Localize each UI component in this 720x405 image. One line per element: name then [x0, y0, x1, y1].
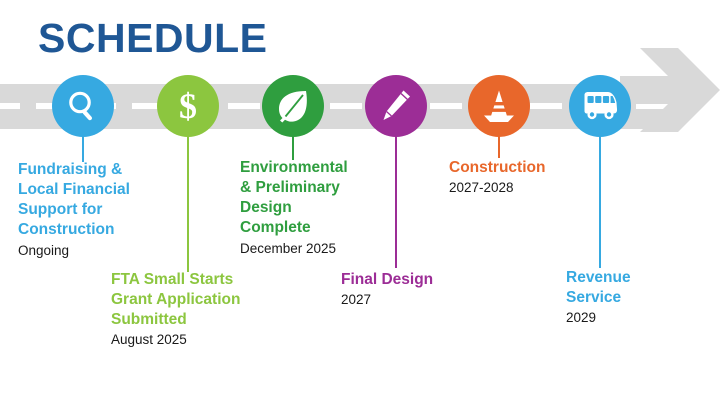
road-dash	[530, 103, 562, 109]
milestone-date-revenue-service: 2029	[566, 309, 676, 327]
bus-icon	[581, 91, 619, 121]
road-dash	[228, 103, 260, 109]
page-title: SCHEDULE	[38, 18, 268, 59]
road-dash	[0, 103, 20, 109]
milestone-node-construction[interactable]	[468, 75, 530, 137]
schedule-infographic: SCHEDULE $ Fundraising & Local Financial…	[0, 0, 720, 405]
milestone-label-construction: Construction2027-2028	[449, 158, 579, 197]
milestone-title-final-design: Final Design	[341, 270, 471, 290]
milestone-node-fta-grant[interactable]: $	[157, 75, 219, 137]
milestone-label-environmental-design: Environmental & Preliminary Design Compl…	[240, 158, 375, 257]
milestone-node-environmental-design[interactable]	[262, 75, 324, 137]
svg-text:$: $	[179, 87, 197, 125]
milestone-date-fundraising: Ongoing	[18, 242, 158, 260]
arrow-right-icon	[620, 46, 720, 167]
milestone-stem-revenue-service	[599, 128, 601, 268]
milestone-title-fta-grant: FTA Small Starts Grant Application Submi…	[111, 270, 276, 330]
milestone-title-construction: Construction	[449, 158, 579, 178]
dollar-sign-icon: $	[171, 87, 205, 125]
milestone-stem-final-design	[395, 128, 397, 268]
road-dash	[430, 103, 462, 109]
milestone-label-fta-grant: FTA Small Starts Grant Application Submi…	[111, 270, 276, 349]
milestone-date-fta-grant: August 2025	[111, 331, 276, 349]
milestone-label-revenue-service: Revenue Service2029	[566, 268, 676, 327]
milestone-date-final-design: 2027	[341, 291, 471, 309]
milestone-title-environmental-design: Environmental & Preliminary Design Compl…	[240, 158, 375, 239]
milestone-stem-fta-grant	[187, 128, 189, 272]
milestone-label-final-design: Final Design2027	[341, 270, 471, 309]
traffic-cone-icon	[481, 89, 517, 123]
pencil-icon	[380, 89, 412, 123]
leaf-icon	[275, 89, 311, 123]
milestone-title-revenue-service: Revenue Service	[566, 268, 676, 308]
milestone-date-environmental-design: December 2025	[240, 240, 375, 258]
magnifying-glass-icon	[66, 89, 100, 123]
milestone-label-fundraising: Fundraising & Local Financial Support fo…	[18, 160, 158, 259]
road-dash	[330, 103, 362, 109]
milestone-title-fundraising: Fundraising & Local Financial Support fo…	[18, 160, 158, 241]
milestone-node-fundraising[interactable]	[52, 75, 114, 137]
milestone-date-construction: 2027-2028	[449, 179, 579, 197]
milestone-node-final-design[interactable]	[365, 75, 427, 137]
milestone-node-revenue-service[interactable]	[569, 75, 631, 137]
